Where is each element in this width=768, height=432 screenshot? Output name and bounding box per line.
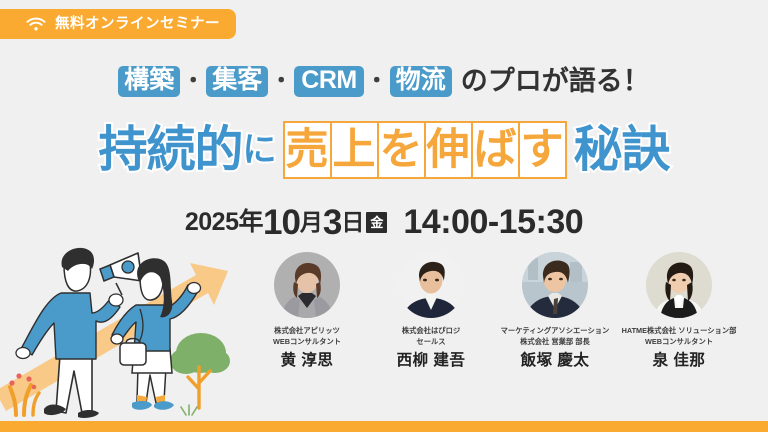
event-date-line: 2025年 10 月 3 日 金 14:00-15:30	[0, 203, 768, 241]
speaker-company-2: 株式会社はぴロジ セールス	[402, 326, 460, 347]
headline-box-5: ば	[471, 121, 520, 179]
speaker-name-4: 泉 佳那	[653, 353, 706, 369]
main-headline: 持続的 に 売 上 を 伸 ば す 秘訣	[0, 114, 768, 186]
keyword-tag-3: CRM	[294, 66, 363, 97]
speaker-photo-1	[274, 252, 340, 318]
event-month-number: 10	[263, 205, 300, 240]
keyword-separator-1: ・	[180, 70, 206, 92]
headline-trail: 秘訣	[574, 126, 670, 175]
headline-box-2: 上	[330, 121, 379, 179]
growth-arrow-people-illustration	[0, 243, 245, 421]
headline-box-6: す	[518, 121, 567, 179]
headline-lead-particle: に	[243, 133, 276, 167]
bottom-accent-bar	[0, 421, 768, 432]
keyword-separator-3: ・	[364, 70, 390, 92]
speaker-name-3: 飯塚 慶太	[521, 353, 590, 369]
tree-shape	[170, 333, 230, 408]
event-year: 2025年	[185, 210, 263, 235]
keyword-separator-2: ・	[268, 70, 294, 92]
badge-label: 無料オンラインセミナー	[55, 17, 220, 32]
speaker-photo-4	[646, 252, 712, 318]
seminar-type-badge: 無料オンラインセミナー	[0, 9, 236, 39]
event-month-unit: 月	[300, 211, 323, 234]
keyword-tag-1: 構築	[118, 66, 180, 97]
speaker-photo-3	[522, 252, 588, 318]
sub-headline-tail: のプロが語る！	[461, 68, 650, 95]
headline-boxed-group: 売 上 を 伸 ば す	[283, 121, 567, 179]
speaker-name-1: 黄 淳思	[281, 353, 334, 369]
keyword-tag-2: 集客	[206, 66, 268, 97]
headline-box-3: を	[377, 121, 426, 179]
speaker-card-2: 株式会社はぴロジ セールス 西柳 建吾	[369, 252, 493, 422]
headline-lead: 持続的	[98, 126, 242, 175]
event-day-unit: 日	[341, 211, 364, 234]
grass-right-shape	[181, 405, 197, 415]
speaker-card-4: HATME株式会社 ソリューション部 WEBコンサルタント 泉 佳那	[617, 252, 741, 422]
sub-headline: 構築 ・ 集客 ・ CRM ・ 物流 のプロが語る！	[0, 60, 768, 102]
speaker-photo-2	[398, 252, 464, 318]
speaker-card-3: マーケティングアソシエーション 株式会社 営業部 部長 飯塚 慶太	[493, 252, 617, 422]
event-day-number: 3	[323, 205, 341, 240]
speaker-card-1: 株式会社アピリッツ WEBコンサルタント 黄 淳思	[245, 252, 369, 422]
keyword-tag-4: 物流	[390, 66, 452, 97]
seminar-banner: 無料オンラインセミナー 構築 ・ 集客 ・ CRM ・ 物流 のプロが語る！ 持…	[0, 0, 768, 432]
speaker-company-4: HATME株式会社 ソリューション部 WEBコンサルタント	[622, 326, 737, 347]
speaker-company-1: 株式会社アピリッツ WEBコンサルタント	[273, 326, 341, 347]
event-weekday-badge: 金	[366, 212, 387, 233]
speaker-company-3: マーケティングアソシエーション 株式会社 営業部 部長	[501, 326, 610, 347]
headline-box-4: 伸	[424, 121, 473, 179]
wifi-icon	[26, 16, 46, 32]
speaker-name-2: 西柳 建吾	[397, 353, 466, 369]
megaphone-shape	[100, 253, 142, 295]
event-time: 14:00-15:30	[403, 205, 583, 239]
speakers-list: 株式会社アピリッツ WEBコンサルタント 黄 淳思 株式会社はぴロジ セールス …	[245, 252, 768, 422]
headline-box-1: 売	[283, 121, 332, 179]
